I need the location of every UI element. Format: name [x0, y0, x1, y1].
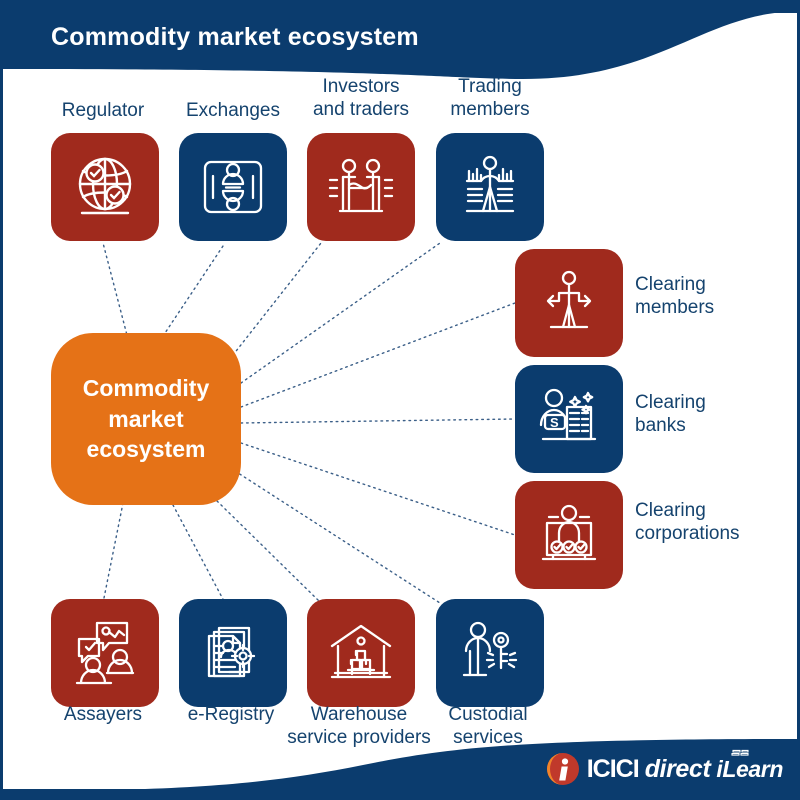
label-clearing-banks-line-2: banks — [635, 415, 686, 436]
banker-building-icon: S — [531, 381, 607, 457]
label-investors-traders-line-1: Investors — [322, 76, 399, 97]
center-label-line-3: ecosystem — [83, 434, 210, 464]
node-warehouse-providers[interactable] — [307, 599, 415, 707]
connector-clearing-corporations — [241, 443, 515, 535]
label-clearing-members-line-1: Clearing — [635, 274, 706, 295]
node-exchanges[interactable] — [179, 133, 287, 241]
assayers-icon — [67, 615, 143, 691]
globe-check-icon — [68, 150, 142, 224]
node-clearing-banks[interactable]: S — [515, 365, 623, 473]
label-clearing-banks-line-1: Clearing — [635, 392, 706, 413]
connector-e-registry — [173, 505, 225, 603]
center-node-commodity-market-ecosystem[interactable]: Commodity market ecosystem — [51, 333, 241, 505]
label-clearing-corporations-line-1: Clearing — [635, 500, 706, 521]
node-custodial-services[interactable] — [436, 599, 544, 707]
label-clearing-members-line-2: members — [635, 297, 714, 318]
icici-direct-ilearn-logo[interactable]: ICICI direct iLearn — [546, 749, 783, 789]
icici-badge-icon — [546, 752, 580, 786]
label-investors-traders-line-2: and traders — [313, 99, 409, 120]
logo-ilearn-text: iLearn — [716, 756, 783, 783]
book-icon — [730, 747, 750, 756]
handshake-icon — [323, 149, 399, 225]
center-label-line-2: market — [83, 404, 210, 434]
node-regulator[interactable] — [51, 133, 159, 241]
connector-regulator — [103, 243, 128, 339]
label-trading-members-line-1: Trading — [458, 76, 522, 97]
connector-clearing-members — [241, 303, 515, 407]
person-key-icon — [452, 615, 528, 691]
connector-trading-members — [241, 243, 440, 383]
node-investors-traders[interactable] — [307, 133, 415, 241]
trader-charts-icon — [452, 149, 528, 225]
person-arrows-icon — [531, 265, 607, 341]
exchange-people-icon — [196, 150, 270, 224]
corporation-icon — [531, 497, 607, 573]
documents-gear-icon — [195, 615, 271, 691]
label-clearing-members: Clearingmembers — [635, 273, 800, 319]
label-trading-members-line-2: members — [450, 99, 529, 120]
label-clearing-corporations: Clearingcorporations — [635, 499, 800, 545]
logo-ilearn-label: iLearn — [716, 756, 783, 782]
connector-clearing-banks — [241, 419, 515, 423]
infographic-canvas: Commodity market ecosystem Commodity mar… — [0, 0, 800, 800]
svg-text:S: S — [550, 415, 559, 430]
page-title: Commodity market ecosystem — [51, 23, 419, 52]
center-label-line-1: Commodity — [83, 373, 210, 403]
label-warehouse-providers-line-1: Warehouse — [311, 704, 407, 725]
label-clearing-corporations-line-2: corporations — [635, 523, 740, 544]
logo-direct-text: direct — [645, 755, 711, 784]
label-custodial-services-line-1: Custodial — [448, 704, 527, 725]
node-assayers[interactable] — [51, 599, 159, 707]
node-clearing-corporations[interactable] — [515, 481, 623, 589]
node-e-registry[interactable] — [179, 599, 287, 707]
connector-exchanges — [163, 243, 225, 336]
connector-warehouse-providers — [217, 501, 321, 603]
warehouse-icon — [323, 615, 399, 691]
label-clearing-banks: Clearingbanks — [635, 391, 800, 437]
label-trading-members: Tradingmembers — [410, 75, 570, 121]
logo-wordmark: ICICI direct iLearn — [587, 755, 783, 784]
connector-custodial-services — [235, 471, 440, 603]
connector-investors-traders — [233, 243, 321, 355]
logo-icici-text: ICICI — [587, 755, 639, 784]
connector-assayers — [103, 503, 123, 603]
node-clearing-members[interactable] — [515, 249, 623, 357]
node-trading-members[interactable] — [436, 133, 544, 241]
